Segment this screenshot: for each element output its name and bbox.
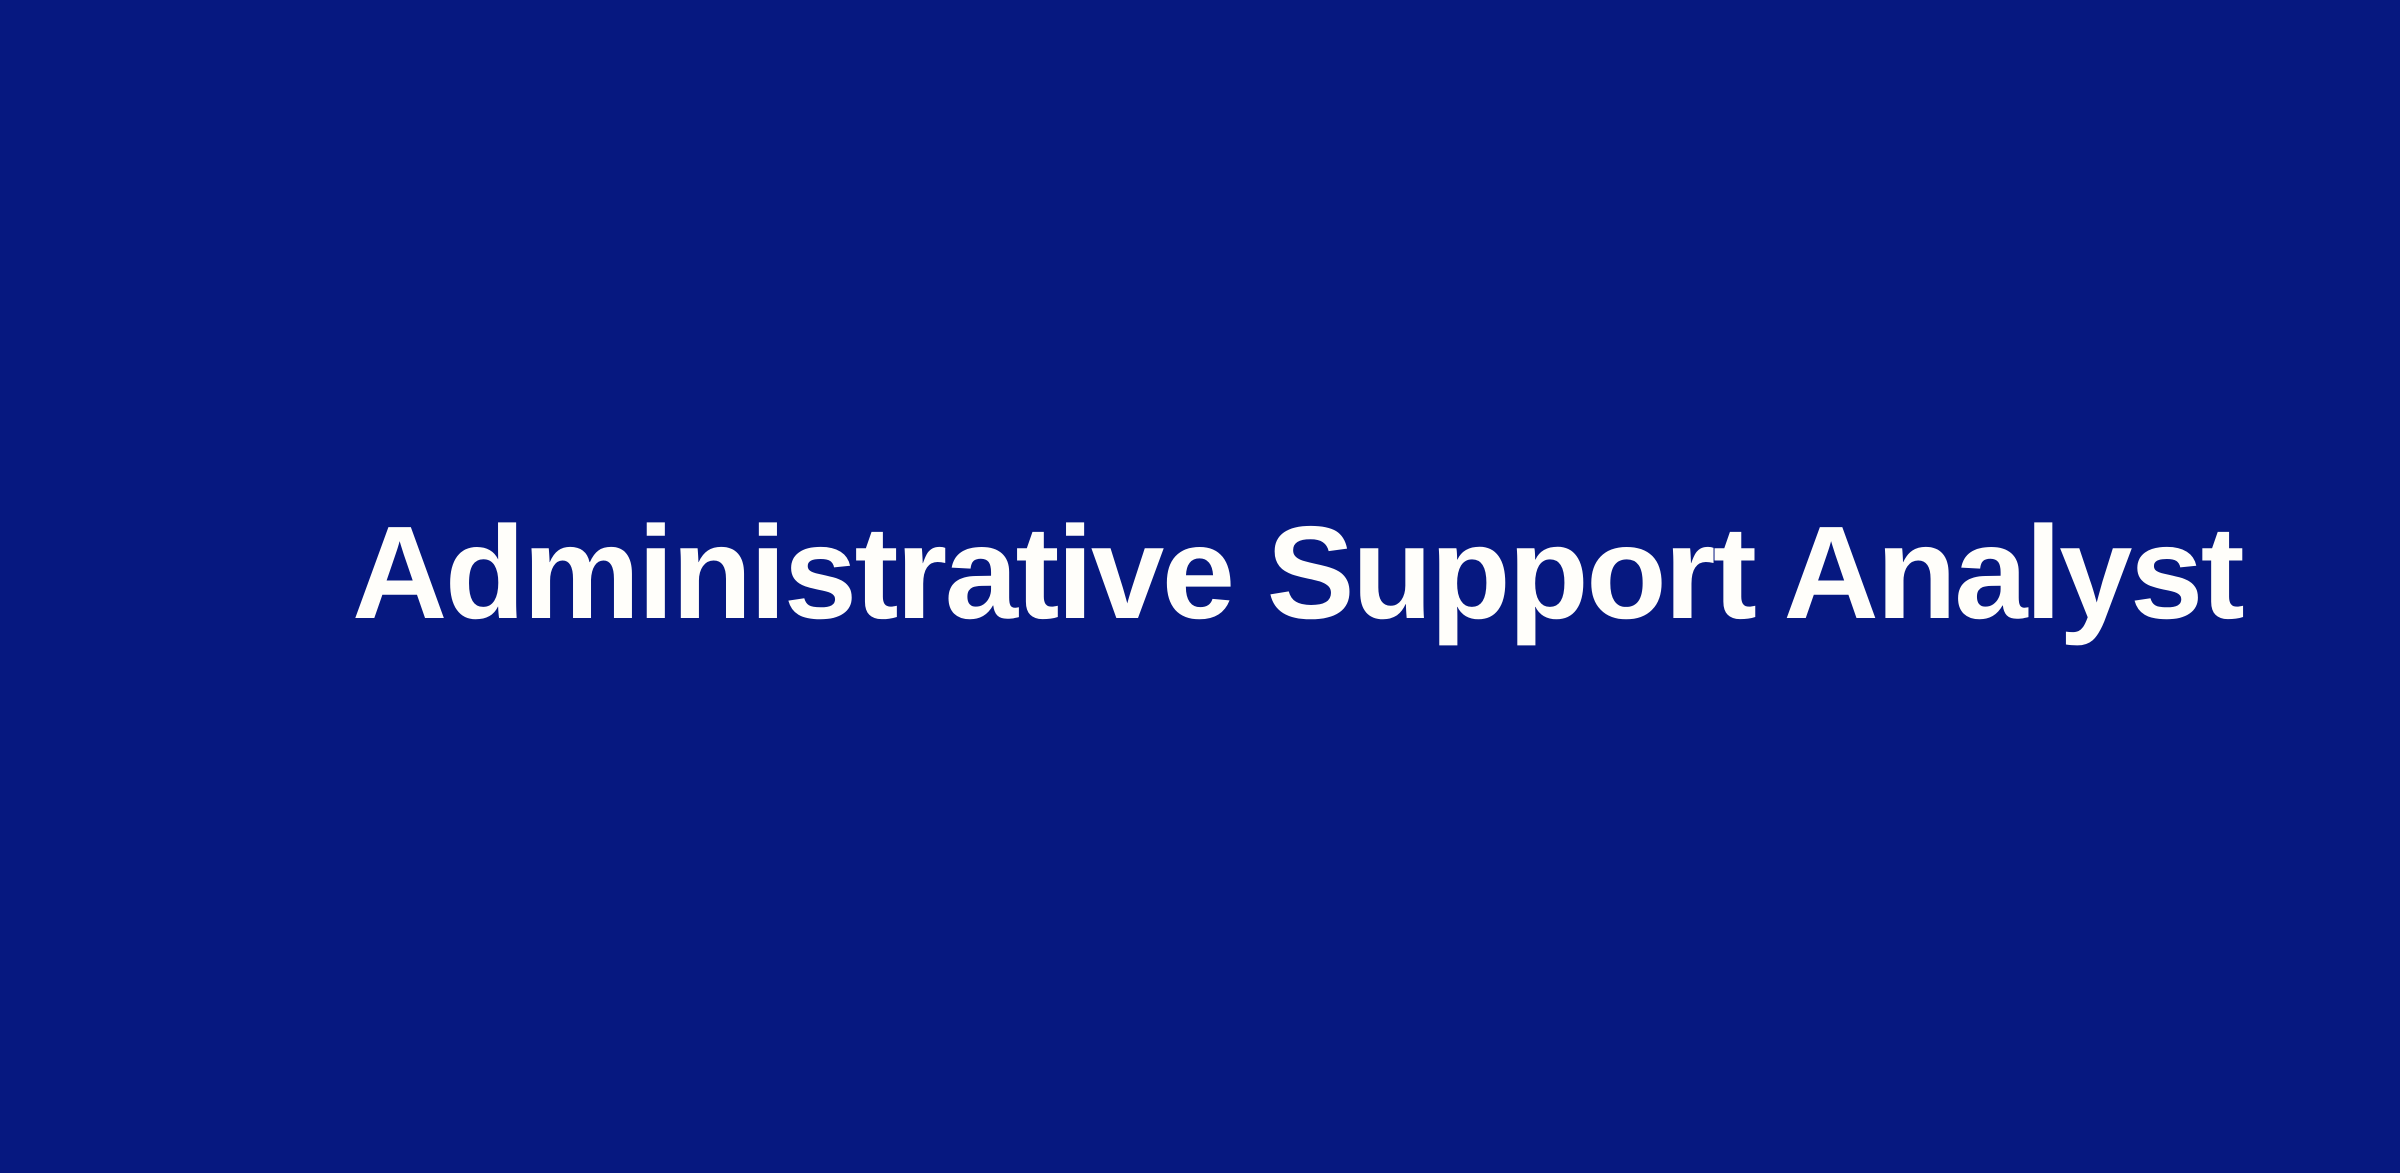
title-banner: Administrative Support Analyst <box>0 0 2400 1173</box>
page-title: Administrative Support Analyst <box>352 502 2242 645</box>
